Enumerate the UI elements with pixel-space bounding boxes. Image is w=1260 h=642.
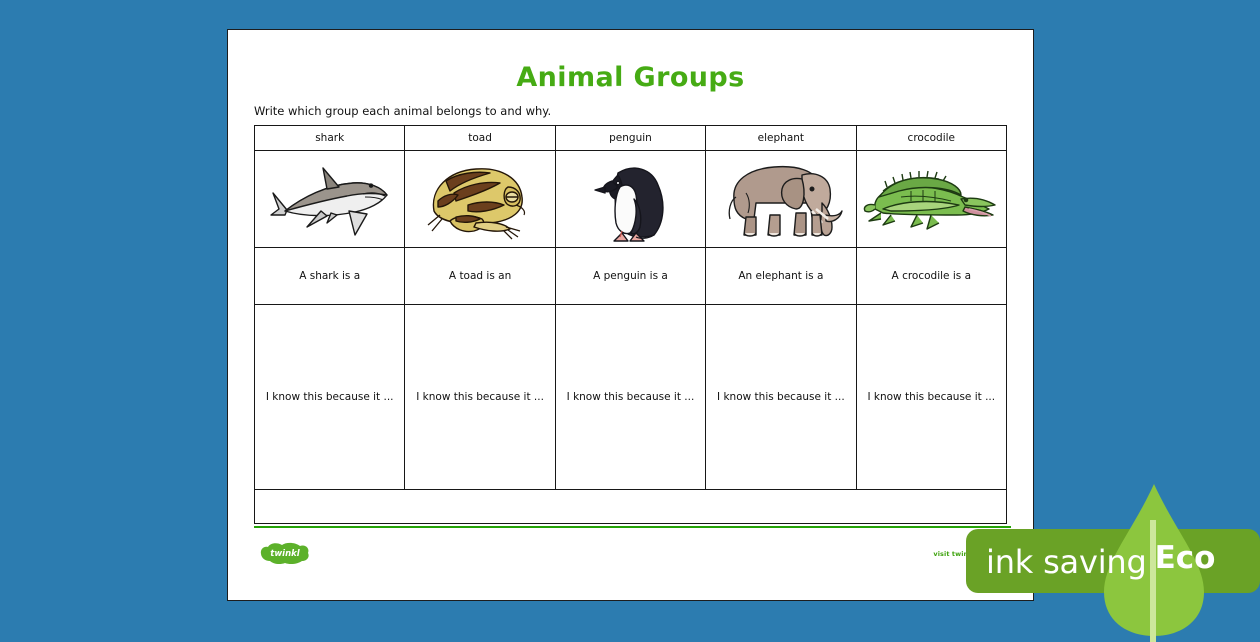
crocodile-icon [861,153,1001,245]
cell-animal-picture-toad [405,151,555,248]
page-title: Animal Groups [254,62,1007,93]
cell-reason-prompt-elephant[interactable]: I know this because it ... [706,305,856,490]
cell-animal-name-crocodile: crocodile [856,126,1006,151]
instruction-text: Write which group each animal belongs to… [254,104,1007,118]
cell-blank-full-width[interactable] [255,490,1007,524]
cell-sentence-starter-elephant[interactable]: An elephant is a [706,248,856,305]
cell-animal-name-shark: shark [255,126,405,151]
table-row-blank [255,490,1007,524]
cell-sentence-starter-toad[interactable]: A toad is an [405,248,555,305]
page-footer: twinkl visit twinkl.com [254,526,1011,584]
cell-reason-prompt-shark[interactable]: I know this because it ... [255,305,405,490]
twinkl-logo-icon[interactable]: twinkl [259,540,311,567]
cell-reason-prompt-crocodile[interactable]: I know this because it ... [856,305,1006,490]
elephant-icon [716,153,846,245]
eco-ink-saving-label: ink saving [986,543,1147,581]
cell-animal-picture-crocodile [856,151,1006,248]
toad-icon [420,153,540,245]
table-row-animal-pictures [255,151,1007,248]
worksheet-page: Animal Groups Write which group each ani… [227,29,1034,601]
footer-divider [254,526,1011,528]
twinkl-logo-text: twinkl [270,549,301,559]
eco-label: Eco [1130,540,1240,576]
table-row-reason-prompts: I know this because it ... I know this b… [255,305,1007,490]
cell-animal-name-elephant: elephant [706,126,856,151]
penguin-icon [578,153,682,245]
animal-groups-table: shark toad penguin elephant crocodile [254,125,1007,524]
cell-sentence-starter-penguin[interactable]: A penguin is a [555,248,705,305]
cell-reason-prompt-penguin[interactable]: I know this because it ... [555,305,705,490]
cell-animal-name-toad: toad [405,126,555,151]
cell-animal-picture-penguin [555,151,705,248]
cell-sentence-starter-crocodile[interactable]: A crocodile is a [856,248,1006,305]
cell-reason-prompt-toad[interactable]: I know this because it ... [405,305,555,490]
cell-animal-picture-elephant [706,151,856,248]
table-row-animal-names: shark toad penguin elephant crocodile [255,126,1007,151]
cell-animal-name-penguin: penguin [555,126,705,151]
cell-animal-picture-shark [255,151,405,248]
table-row-sentence-starters: A shark is a A toad is an A penguin is a… [255,248,1007,305]
cell-sentence-starter-shark[interactable]: A shark is a [255,248,405,305]
eco-badge: ink saving Eco [966,529,1260,593]
shark-icon [265,153,395,245]
